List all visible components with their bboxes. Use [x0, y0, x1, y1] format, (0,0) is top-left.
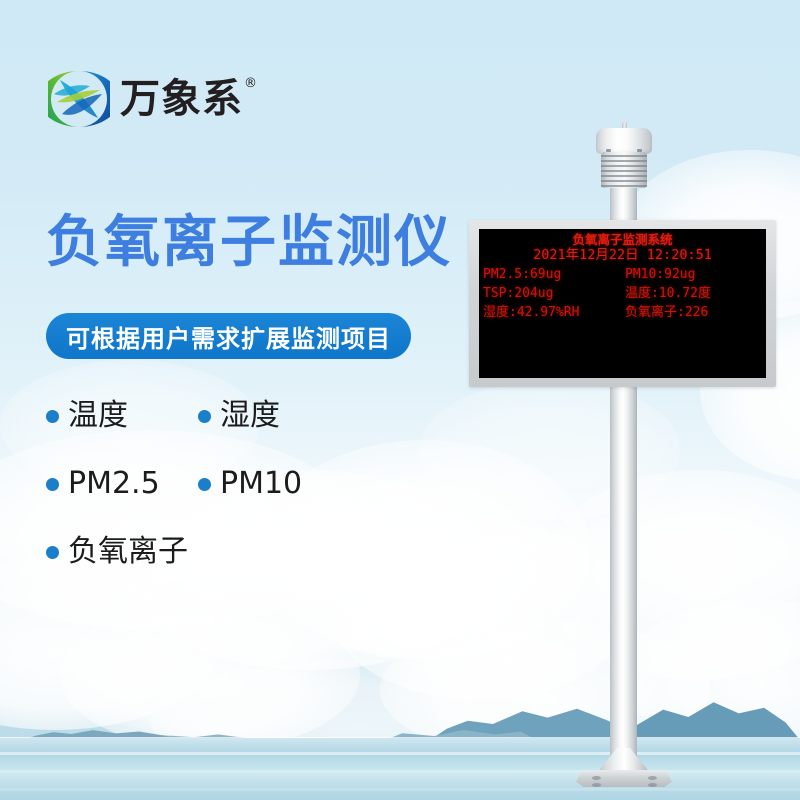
base-bolt — [648, 776, 657, 780]
product-banner: 负氧离子监测系统 2021年12月22日 12:20:51 PM2.5:69ug… — [0, 0, 800, 800]
subtitle-pill: 可根据用户需求扩展监测项目 — [46, 313, 411, 359]
led-reading-humidity: 湿度:42.97%RH — [483, 303, 623, 322]
bullet-dot-icon — [46, 546, 59, 559]
radiation-shield-sensor — [596, 118, 652, 190]
led-display-frame: 负氧离子监测系统 2021年12月22日 12:20:51 PM2.5:69ug… — [469, 220, 776, 387]
louver-fin — [601, 155, 647, 157]
water-highlight — [0, 752, 800, 755]
feature-list: 温度 湿度 PM2.5 PM10 负氧离子 — [46, 382, 386, 586]
led-reading-negative-ions: 负氧离子:226 — [623, 303, 766, 322]
feature-label: PM2.5 — [68, 469, 160, 499]
led-display-screen: 负氧离子监测系统 2021年12月22日 12:20:51 PM2.5:69ug… — [479, 229, 766, 378]
list-item: PM2.5 — [46, 469, 198, 499]
list-item: PM10 — [198, 469, 302, 499]
bullet-dot-icon — [46, 478, 59, 491]
louver-fin — [601, 165, 647, 167]
brand-name-text: 万象系 — [120, 76, 243, 122]
louver-fin — [601, 170, 647, 172]
pole-base-flange — [576, 770, 672, 787]
list-item: 负氧离子 — [46, 537, 198, 567]
bullet-dot-icon — [198, 478, 211, 491]
sensor-louver-stack — [601, 152, 647, 188]
sensor-cap — [596, 128, 652, 154]
louver-fin — [601, 175, 647, 177]
feature-label: 温度 — [68, 401, 128, 431]
brand-logo: 万象系 ® — [48, 68, 243, 130]
led-reading-pm25: PM2.5:69ug — [483, 265, 623, 284]
feature-row: PM2.5 PM10 — [46, 450, 386, 518]
registered-trademark-icon: ® — [244, 77, 258, 90]
water-highlight — [0, 770, 800, 773]
base-bolt — [592, 783, 601, 787]
list-item: 湿度 — [198, 401, 280, 431]
led-readings-grid: PM2.5:69ug PM10:92ug TSP:204ug 温度:10.72度… — [479, 265, 766, 322]
bullet-dot-icon — [198, 410, 211, 423]
list-item: 温度 — [46, 401, 198, 431]
led-datetime: 2021年12月22日 12:20:51 — [479, 247, 766, 264]
water-highlight — [0, 788, 800, 791]
bullet-dot-icon — [46, 410, 59, 423]
base-bolt — [648, 783, 657, 787]
louver-fin — [601, 180, 647, 182]
page-title: 负氧离子监测仪 — [46, 212, 452, 274]
feature-row: 温度 湿度 — [46, 382, 386, 450]
feature-label: PM10 — [220, 469, 302, 499]
base-bolt — [592, 776, 601, 780]
led-reading-pm10: PM10:92ug — [623, 265, 766, 284]
feature-label: 负氧离子 — [68, 537, 188, 567]
brand-name: 万象系 ® — [120, 79, 243, 119]
led-title: 负氧离子监测系统 — [479, 232, 766, 247]
louver-fin — [601, 160, 647, 162]
louver-fin — [601, 185, 647, 187]
led-reading-tsp: TSP:204ug — [483, 284, 623, 303]
globe-swirl-logo-icon — [48, 68, 110, 130]
led-reading-temperature: 温度:10.72度 — [623, 284, 766, 303]
feature-row: 负氧离子 — [46, 518, 386, 586]
feature-label: 湿度 — [220, 401, 280, 431]
